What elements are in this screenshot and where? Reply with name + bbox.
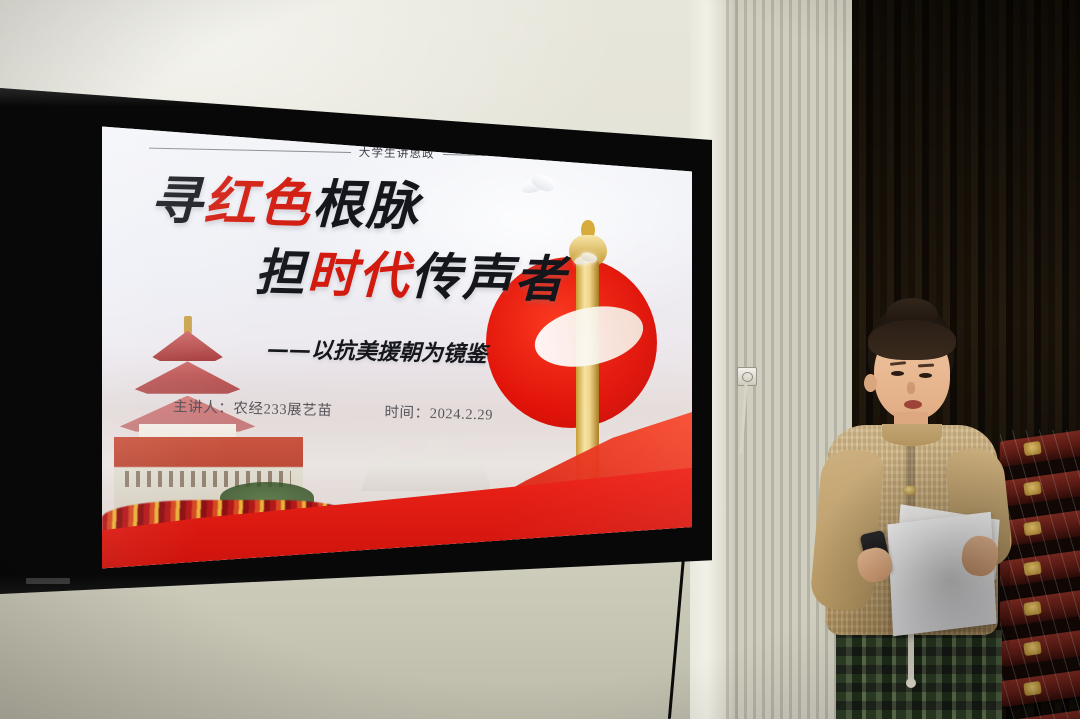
plaid-skirt — [836, 630, 1002, 719]
cardigan-collar — [882, 424, 942, 446]
cardigan-button — [904, 486, 916, 495]
title-seg: 担 — [254, 242, 307, 302]
title-seg-accent: 时代 — [306, 243, 411, 304]
wall-display[interactable]: 大学生讲思政 寻红色根脉 担时代传声者 ——以抗美援朝为镜鉴 主讲人：农经233… — [0, 86, 712, 596]
header-rule-left — [149, 147, 351, 152]
presenter-person — [790, 300, 1040, 719]
title-line-2: 担时代传声者 — [254, 247, 692, 307]
ear — [864, 374, 877, 392]
display-brand-logo — [26, 578, 70, 584]
title-seg-accent: 红色 — [203, 171, 312, 235]
mouth — [904, 400, 922, 409]
title-seg: 寻 — [149, 170, 204, 232]
slide-title: 寻红色根脉 担时代传声者 — [102, 174, 692, 308]
presenter-label: 主讲人：农经233展艺苗 — [173, 395, 333, 420]
title-seg: 传声者 — [410, 246, 567, 309]
nose — [907, 382, 915, 394]
slide-subtitle: ——以抗美援朝为镜鉴 — [267, 331, 488, 368]
wall-power-outlet-icon — [737, 367, 757, 386]
title-seg: 根脉 — [311, 173, 420, 237]
date-label: 时间：2024.2.29 — [384, 401, 493, 425]
hair-fringe — [868, 320, 956, 360]
presentation-slide[interactable]: 大学生讲思政 寻红色根脉 担时代传声者 ——以抗美援朝为镜鉴 主讲人：农经233… — [102, 122, 692, 572]
eye — [891, 371, 904, 376]
photo-scene: 大学生讲思政 寻红色根脉 担时代传声者 ——以抗美援朝为镜鉴 主讲人：农经233… — [0, 0, 1080, 719]
eye — [919, 373, 932, 378]
